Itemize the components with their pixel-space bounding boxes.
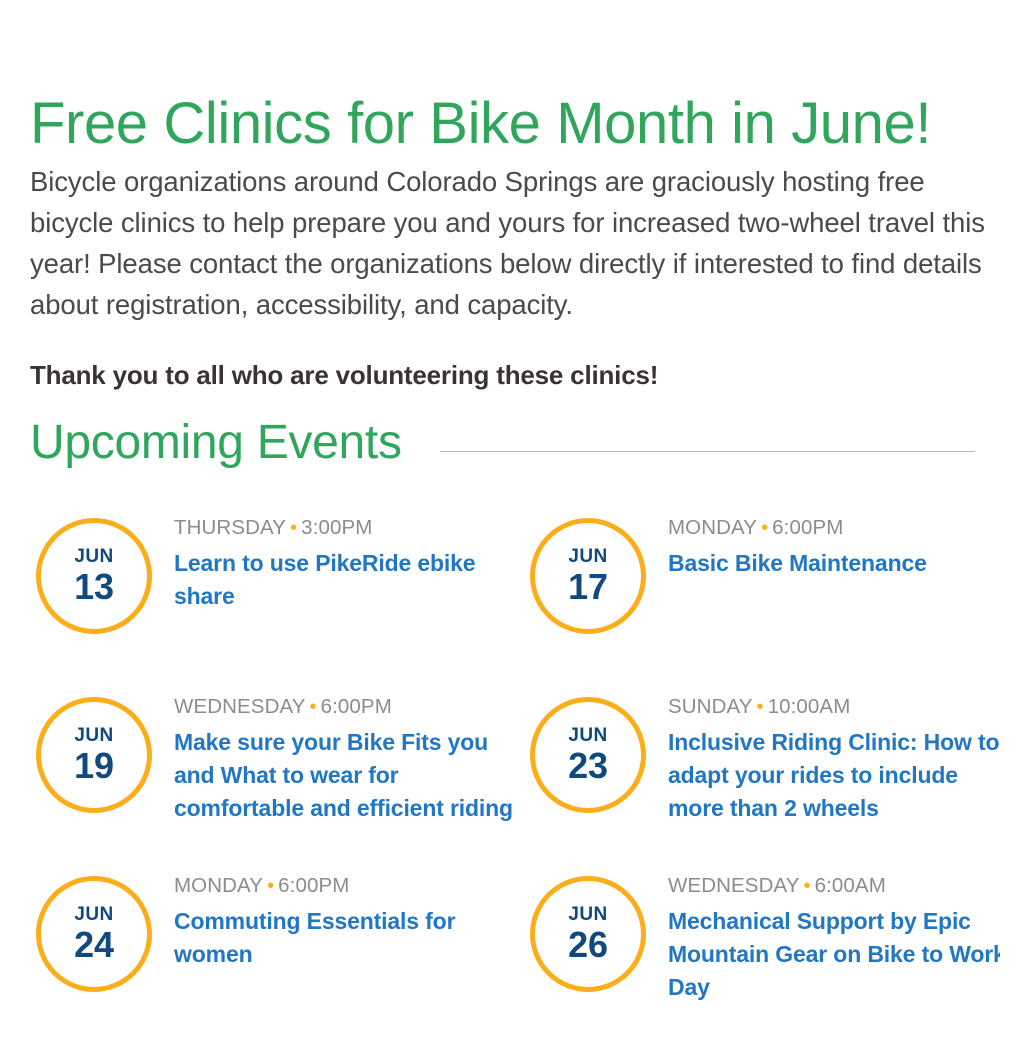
intro-paragraph: Bicycle organizations around Colorado Sp… bbox=[30, 161, 998, 325]
event-weekday: MONDAY bbox=[668, 516, 757, 539]
date-badge-circle-icon: JUN 17 bbox=[530, 518, 646, 634]
event-title-link[interactable]: Mechanical Support by Epic Mountain Gear… bbox=[668, 905, 1000, 1004]
event-title-link[interactable]: Make sure your Bike Fits you and What to… bbox=[174, 726, 514, 825]
event-time: 6:00PM bbox=[278, 874, 349, 897]
meta-separator-dot-icon: • bbox=[753, 696, 768, 718]
upcoming-events-header: Upcoming Events bbox=[30, 408, 975, 478]
event-weekday: SUNDAY bbox=[668, 695, 753, 718]
date-day: 26 bbox=[568, 926, 608, 964]
date-day: 19 bbox=[74, 747, 114, 785]
event-meta: MONDAY•6:00PM bbox=[174, 872, 524, 900]
page-title: Free Clinics for Bike Month in June! bbox=[30, 89, 994, 159]
date-badge-circle-icon: JUN 19 bbox=[36, 697, 152, 813]
event-title-link[interactable]: Inclusive Riding Clinic: How to adapt yo… bbox=[668, 726, 1000, 825]
section-title: Upcoming Events bbox=[30, 413, 402, 473]
date-month: JUN bbox=[568, 905, 607, 925]
event-item[interactable]: JUN 24 MONDAY•6:00PM Commuting Essential… bbox=[30, 866, 524, 1045]
event-time: 6:00PM bbox=[321, 695, 392, 718]
date-day: 23 bbox=[568, 747, 608, 785]
event-body: WEDNESDAY•6:00AM Mechanical Support by E… bbox=[646, 866, 1000, 1004]
event-title-link[interactable]: Learn to use PikeRide ebike share bbox=[174, 547, 514, 613]
meta-separator-dot-icon: • bbox=[800, 875, 815, 897]
event-title-link[interactable]: Basic Bike Maintenance bbox=[668, 547, 1000, 580]
event-item[interactable]: JUN 13 THURSDAY•3:00PM Learn to use Pike… bbox=[30, 508, 524, 687]
event-weekday: THURSDAY bbox=[174, 516, 286, 539]
date-month: JUN bbox=[74, 547, 113, 567]
event-body: THURSDAY•3:00PM Learn to use PikeRide eb… bbox=[152, 508, 524, 613]
thank-you-line: Thank you to all who are volunteering th… bbox=[30, 357, 990, 393]
date-month: JUN bbox=[74, 905, 113, 925]
event-time: 6:00AM bbox=[815, 874, 886, 897]
event-item[interactable]: JUN 19 WEDNESDAY•6:00PM Make sure your B… bbox=[30, 687, 524, 866]
meta-separator-dot-icon: • bbox=[286, 517, 301, 539]
event-meta: WEDNESDAY•6:00AM bbox=[668, 872, 1000, 900]
page-root: Free Clinics for Bike Month in June! Bic… bbox=[0, 0, 1024, 1024]
event-time: 6:00PM bbox=[772, 516, 843, 539]
event-time: 10:00AM bbox=[768, 695, 851, 718]
date-day: 13 bbox=[74, 568, 114, 606]
event-item[interactable]: JUN 26 WEDNESDAY•6:00AM Mechanical Suppo… bbox=[524, 866, 1000, 1045]
event-title-link[interactable]: Commuting Essentials for women bbox=[174, 905, 514, 971]
event-weekday: WEDNESDAY bbox=[174, 695, 306, 718]
header-divider-rule bbox=[440, 451, 975, 452]
event-meta: WEDNESDAY•6:00PM bbox=[174, 693, 524, 721]
meta-separator-dot-icon: • bbox=[757, 517, 772, 539]
date-month: JUN bbox=[568, 547, 607, 567]
event-item[interactable]: JUN 17 MONDAY•6:00PM Basic Bike Maintena… bbox=[524, 508, 1000, 687]
event-weekday: WEDNESDAY bbox=[668, 874, 800, 897]
date-badge-circle-icon: JUN 24 bbox=[36, 876, 152, 992]
event-meta: MONDAY•6:00PM bbox=[668, 514, 1000, 542]
date-day: 17 bbox=[568, 568, 608, 606]
event-meta: THURSDAY•3:00PM bbox=[174, 514, 524, 542]
date-month: JUN bbox=[568, 726, 607, 746]
event-item[interactable]: JUN 23 SUNDAY•10:00AM Inclusive Riding C… bbox=[524, 687, 1000, 866]
meta-separator-dot-icon: • bbox=[306, 696, 321, 718]
event-body: SUNDAY•10:00AM Inclusive Riding Clinic: … bbox=[646, 687, 1000, 825]
event-weekday: MONDAY bbox=[174, 874, 263, 897]
date-badge-circle-icon: JUN 23 bbox=[530, 697, 646, 813]
date-month: JUN bbox=[74, 726, 113, 746]
events-grid: JUN 13 THURSDAY•3:00PM Learn to use Pike… bbox=[30, 508, 1000, 1045]
date-badge-circle-icon: JUN 13 bbox=[36, 518, 152, 634]
event-meta: SUNDAY•10:00AM bbox=[668, 693, 1000, 721]
event-body: WEDNESDAY•6:00PM Make sure your Bike Fit… bbox=[152, 687, 524, 825]
meta-separator-dot-icon: • bbox=[263, 875, 278, 897]
date-day: 24 bbox=[74, 926, 114, 964]
event-body: MONDAY•6:00PM Commuting Essentials for w… bbox=[152, 866, 524, 971]
date-badge-circle-icon: JUN 26 bbox=[530, 876, 646, 992]
event-body: MONDAY•6:00PM Basic Bike Maintenance bbox=[646, 508, 1000, 580]
event-time: 3:00PM bbox=[301, 516, 372, 539]
